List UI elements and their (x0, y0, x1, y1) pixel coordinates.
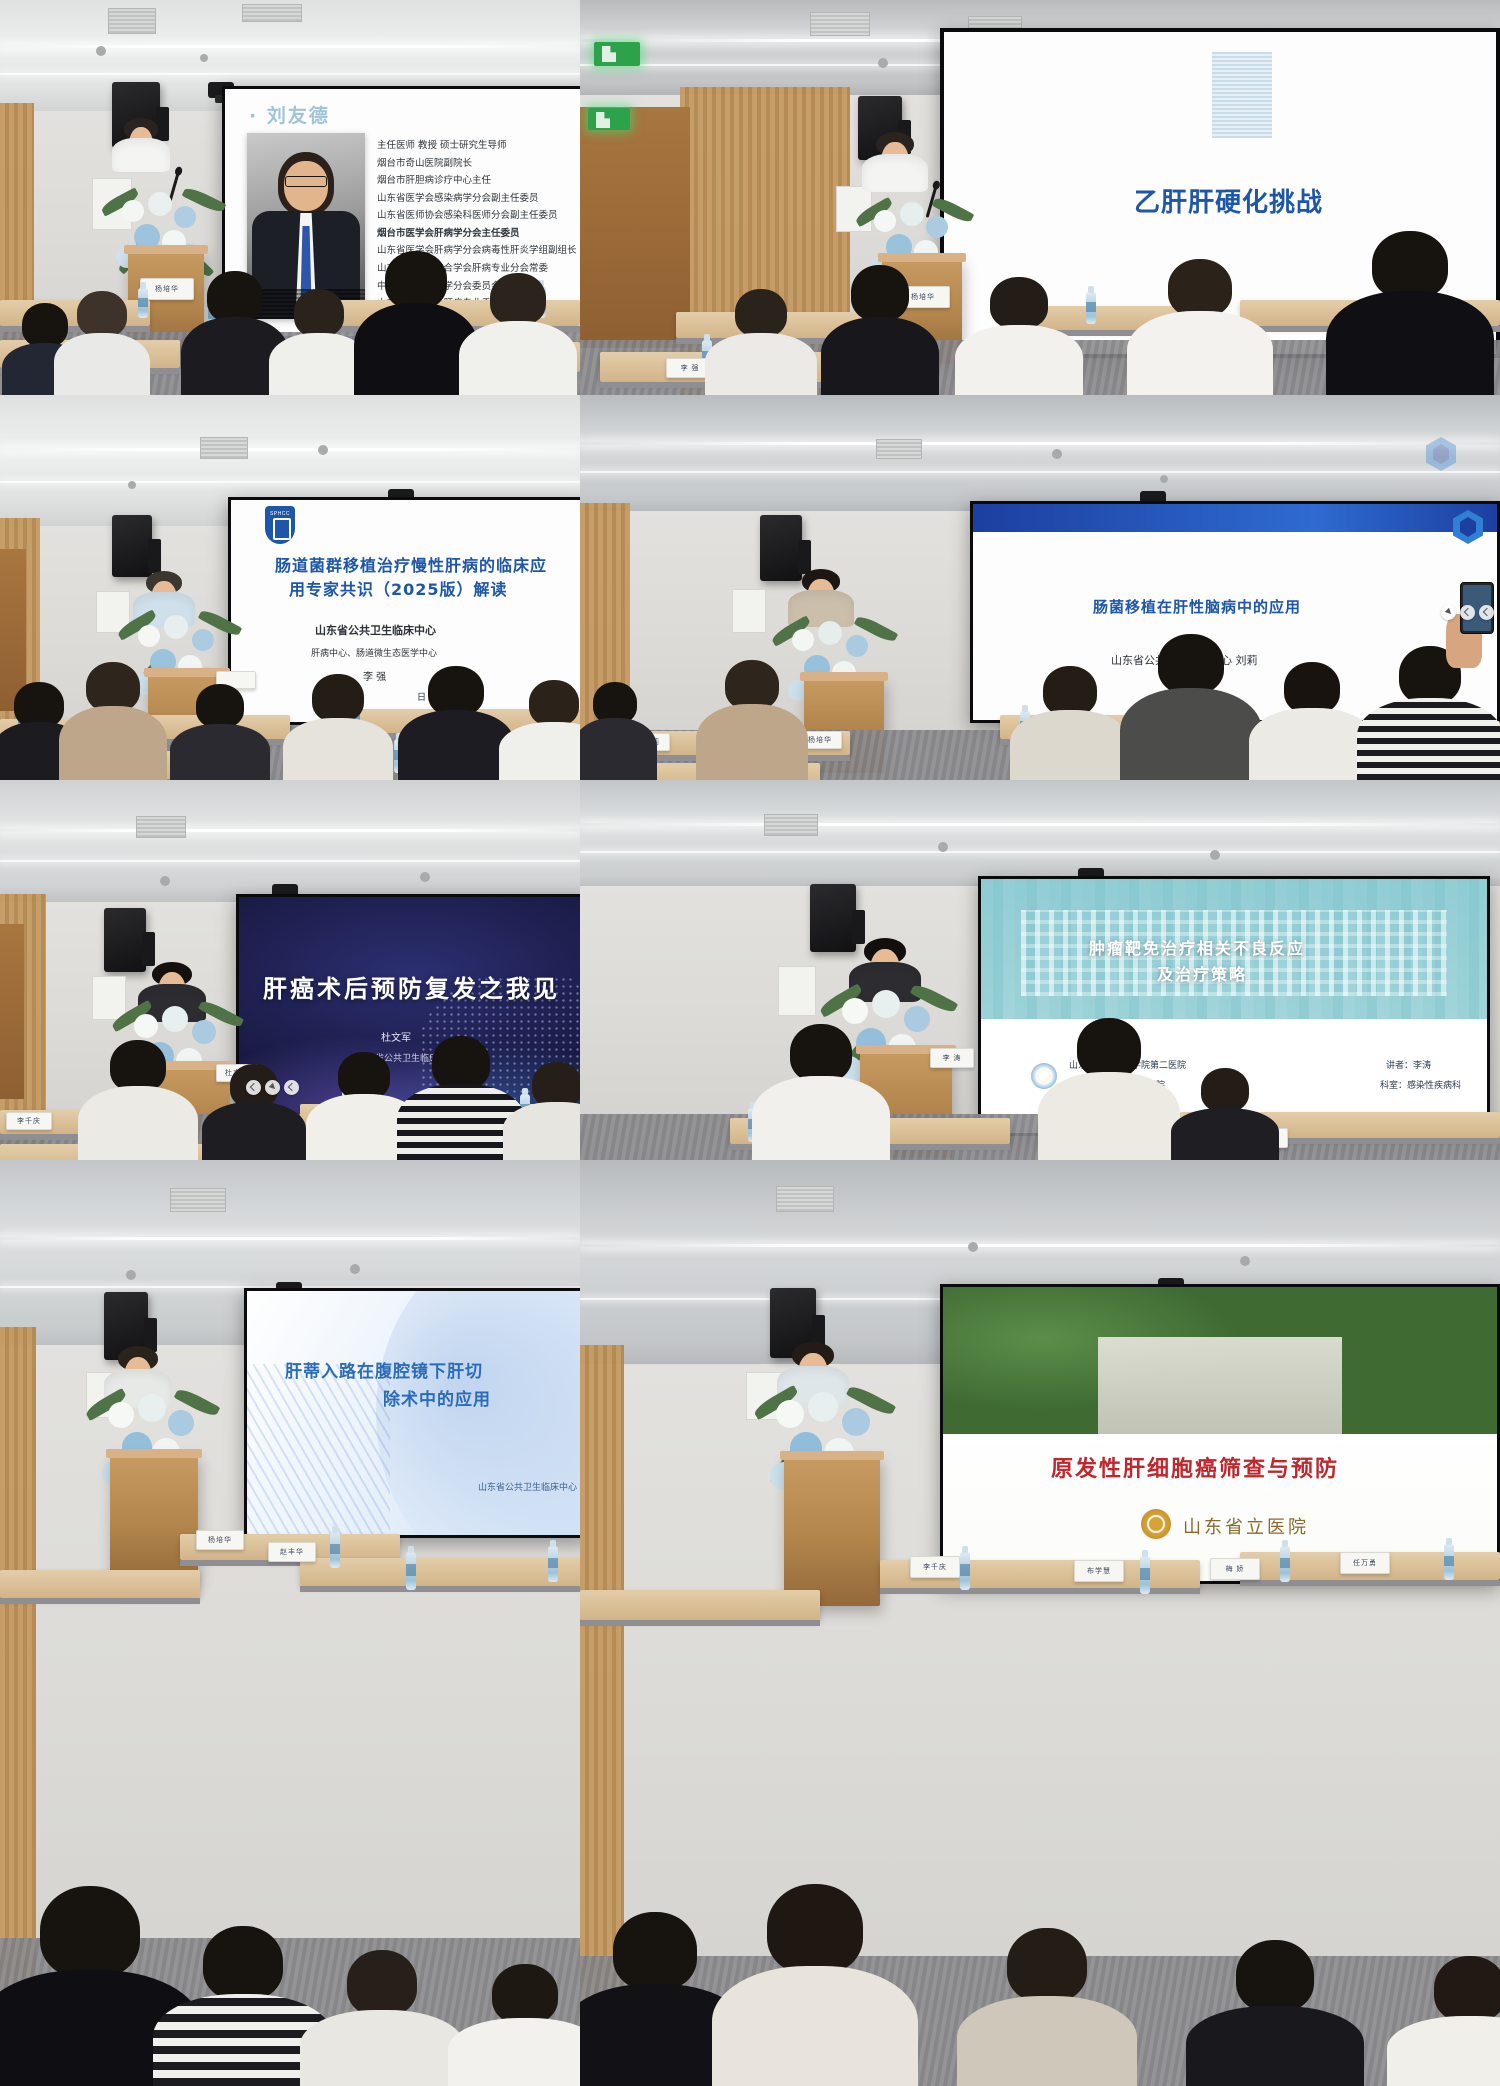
sphcc-logo-icon: SPHCC (265, 506, 295, 544)
panel-6[interactable]: 肿瘤靶免治疗相关不良反应 及治疗策略 山东大学齐鲁医学院第二医院 山东大学第二临… (580, 780, 1500, 1160)
desk (300, 1558, 580, 1586)
slide-heading: · 刘友德 (249, 101, 330, 128)
audience-member (972, 1936, 1122, 2086)
name-card: 李千庆 (6, 1112, 52, 1130)
slide-org: 山东省立医院 (1183, 1513, 1309, 1539)
conference-room-scene: 肿瘤靶免治疗相关不良反应 及治疗策略 山东大学齐鲁医学院第二医院 山东大学第二临… (580, 780, 1500, 1160)
audience-member (1400, 1964, 1500, 2086)
hospital-logo-icon (1141, 1509, 1171, 1539)
ceiling-vent-icon (776, 1186, 834, 1212)
panel-5[interactable]: 肝癌术后预防复发之我见 杜文军 山东省公共卫生临床中心 (0, 780, 580, 1160)
bio-line: 山东省医师协会感染科医师分会副主任委员 (377, 207, 577, 225)
slide-title-line-2: 用专家共识（2025版）解读 (289, 576, 508, 600)
smoke-detector-icon (1052, 449, 1062, 459)
ceiling-vent-icon (764, 814, 818, 836)
bio-line: 烟台市奇山医院副院长 (377, 155, 577, 173)
wall-speaker-icon (810, 884, 856, 952)
panel-7[interactable]: 肝蒂入路在腹腔镜下肝切 除术中的应用 山东省公共卫生临床中心 (0, 1160, 580, 2086)
wall-plate (778, 966, 816, 1016)
name-card: 杨培华 (196, 1530, 244, 1550)
audience-member (580, 676, 650, 780)
photo-collage-grid: · 刘友德 主任医师 教授 硕士研究生导师 烟台市奇山医院副院长 烟台市肝胆病诊… (0, 0, 1500, 2086)
conference-room-scene: 乙肝肝硬化挑战 杨培华 (580, 0, 1500, 395)
audience-member (408, 1032, 514, 1160)
panel-2[interactable]: 乙肝肝硬化挑战 杨培华 (580, 0, 1500, 395)
water-bottle (330, 1532, 340, 1568)
audience-member (1132, 630, 1250, 780)
water-bottle (960, 1552, 970, 1590)
water-bottle (406, 1552, 416, 1590)
audience-member (706, 654, 798, 780)
slide-dept: 肝病中心、肠道微生态医学中心 (311, 646, 437, 659)
ceiling (580, 395, 1500, 518)
slide-title: 肝癌术后预防复发之我见 (263, 969, 560, 1004)
ceiling-vent-icon (108, 8, 156, 34)
exit-sign-icon (588, 108, 630, 130)
play-icon[interactable] (1441, 605, 1456, 620)
smoke-detector-icon (160, 876, 170, 886)
smoke-detector-icon (1160, 475, 1168, 483)
audience-member (1020, 662, 1120, 780)
audience-member (1260, 660, 1364, 780)
audience-member (292, 672, 384, 780)
ceiling-vent-icon (876, 439, 922, 459)
conference-room-scene: SPHCC 肠道菌群移植治疗慢性肝病的临床应 用专家共识（2025版）解读 山东… (0, 395, 580, 780)
conference-room-scene: 肝癌术后预防复发之我见 杜文军 山东省公共卫生临床中心 (0, 780, 580, 1160)
water-bottle (548, 1546, 558, 1582)
ceiling-vent-icon (170, 1188, 226, 1212)
presenter-body (112, 138, 170, 172)
wall-speaker-icon (104, 908, 146, 972)
chevron-right-icon[interactable] (1479, 605, 1494, 620)
panel-3[interactable]: SPHCC 肠道菌群移植治疗慢性肝病的临床应 用专家共识（2025版）解读 山东… (0, 395, 580, 780)
audience-member (368, 245, 464, 395)
ceiling-vent-icon (200, 437, 248, 459)
audience-member (408, 662, 504, 780)
audience-member (508, 678, 580, 780)
slide-org: 山东省公共卫生临床中心 (478, 1480, 577, 1493)
audience-member (460, 1970, 580, 2086)
play-icon[interactable] (265, 1080, 280, 1095)
desk (580, 1590, 820, 1620)
water-bottle (1086, 292, 1096, 324)
podium (784, 1456, 880, 1606)
conference-room-scene: 肝蒂入路在腹腔镜下肝切 除术中的应用 山东省公共卫生临床中心 (0, 1160, 580, 2086)
smoke-detector-icon (1240, 1256, 1250, 1266)
audience-member (312, 1958, 452, 2086)
smoke-detector-icon (968, 1242, 978, 1252)
slideshow-nav-controls[interactable] (246, 1080, 299, 1095)
smoke-detector-icon (318, 445, 328, 455)
water-bottle (1444, 1544, 1454, 1580)
audience-member (88, 1036, 188, 1160)
slide-campus-photo (943, 1287, 1497, 1434)
panel-1[interactable]: · 刘友德 主任医师 教授 硕士研究生导师 烟台市奇山医院副院长 烟台市肝胆病诊… (0, 0, 580, 395)
audience-member (470, 269, 566, 395)
audience-member (190, 265, 280, 395)
audience-member (1200, 1950, 1350, 2086)
slide-content: 肝蒂入路在腹腔镜下肝切 除术中的应用 山东省公共卫生临床中心 (247, 1291, 580, 1535)
slide-title-line-2: 除术中的应用 (383, 1385, 491, 1410)
projection-screen[interactable]: 肝蒂入路在腹腔镜下肝切 除术中的应用 山东省公共卫生临床中心 (244, 1288, 580, 1538)
audience-member (730, 1890, 900, 2086)
audience-member (830, 263, 930, 395)
audience-member (168, 1936, 318, 2086)
exit-sign-icon (594, 42, 640, 66)
bio-line: 山东省医学会感染病学分会副主任委员 (377, 190, 577, 208)
slide-title-line-1: 肠道菌群移植治疗慢性肝病的临床应 (275, 552, 547, 576)
smoke-detector-icon (938, 842, 948, 852)
name-card: 赵丰华 (268, 1542, 316, 1562)
slide-title: 原发性肝细胞癌筛查与预防 (1051, 1451, 1339, 1483)
audience-member (276, 283, 362, 395)
door (0, 924, 24, 1099)
ceiling-vent-icon (810, 12, 870, 36)
chevron-left-icon[interactable] (1460, 605, 1475, 620)
projection-screen[interactable]: 原发性肝细胞癌筛查与预防 山东省立医院 (940, 1284, 1500, 1584)
audience-member (62, 285, 142, 395)
wall-speaker-icon (760, 515, 802, 581)
slide-speaker-label: 讲者：李涛 (1386, 1058, 1431, 1071)
smoke-detector-icon (350, 1264, 360, 1274)
slide-org: 山东省公共卫生临床中心 (315, 622, 436, 638)
smoke-detector-icon (96, 46, 106, 56)
audience-member (714, 285, 808, 395)
smoke-detector-icon (200, 54, 208, 62)
slide-title-line-1: 肝蒂入路在腹腔镜下肝切 (285, 1357, 483, 1382)
conference-room-scene: 肠菌移植在肝性脑病中的应用 山东省公共卫生临床中心 刘莉 (580, 395, 1500, 780)
logo-text: SPHCC (265, 511, 295, 517)
slide-header-band (973, 504, 1497, 532)
ceiling-vent-icon (136, 816, 186, 838)
name-card: 梅 娇 (1210, 1558, 1260, 1580)
smoke-detector-icon (1210, 850, 1220, 860)
slide-title-line-1: 肿瘤靶免治疗相关不良反应 (1089, 935, 1305, 959)
name-card: 任万勇 (1340, 1552, 1390, 1574)
slide-title-line-2: 及治疗策略 (1157, 961, 1247, 985)
slide-presenter: 杜文军 (381, 1029, 411, 1044)
slideshow-nav-controls[interactable] (1441, 605, 1494, 620)
audience-member (210, 1062, 298, 1160)
slide-title: 乙肝肝硬化挑战 (1134, 182, 1323, 219)
audience-member (1340, 225, 1480, 395)
slide-dept-label: 科室：感染性疾病科 (1380, 1078, 1461, 1091)
audience-member (178, 684, 262, 780)
wall-plate (732, 589, 766, 633)
desk (0, 1570, 200, 1598)
audience-member (1140, 255, 1260, 395)
panel-8[interactable]: 原发性肝细胞癌筛查与预防 山东省立医院 (580, 1160, 1500, 2086)
name-card: 李千庆 (910, 1556, 960, 1578)
conference-room-scene: · 刘友德 主任医师 教授 硕士研究生导师 烟台市奇山医院副院长 烟台市肝胆病诊… (0, 0, 580, 395)
door (580, 107, 690, 348)
chevron-right-icon[interactable] (284, 1080, 299, 1095)
wall-speaker-icon (112, 515, 152, 577)
audience-member (764, 1020, 878, 1160)
panel-4[interactable]: 肠菌移植在肝性脑病中的应用 山东省公共卫生临床中心 刘莉 (580, 395, 1500, 780)
presenter (124, 118, 158, 170)
smoke-detector-icon (128, 481, 136, 489)
audience-member (580, 1916, 730, 2086)
smoke-detector-icon (420, 872, 430, 882)
water-bottle (1280, 1546, 1290, 1582)
slide-title: 肠菌移植在肝性脑病中的应用 (1093, 596, 1301, 617)
audience-member (68, 658, 158, 780)
name-card: 杨培华 (140, 278, 194, 300)
smoke-detector-icon (126, 1270, 136, 1280)
audience-member (1180, 1068, 1270, 1160)
slide-line-graphic (247, 1364, 390, 1535)
slide-thumbnail (1212, 52, 1272, 138)
name-card: 布学慧 (1074, 1560, 1124, 1582)
audience-member (512, 1060, 580, 1160)
smoke-detector-icon (878, 58, 888, 68)
presenter-body (862, 154, 927, 192)
ceiling-vent-icon (242, 4, 302, 22)
audience-member (964, 275, 1074, 395)
presenter (876, 132, 914, 190)
audience-member (1050, 1014, 1168, 1160)
conference-room-scene: 原发性肝细胞癌筛查与预防 山东省立医院 (580, 1160, 1500, 2086)
water-bottle (1140, 1556, 1150, 1594)
slide-content: 原发性肝细胞癌筛查与预防 山东省立医院 (943, 1287, 1497, 1581)
slide-arc-graphic (376, 1291, 580, 1535)
bio-line: 烟台市肝胆病诊疗中心主任 (377, 172, 577, 190)
bio-line: 主任医师 教授 硕士研究生导师 (377, 137, 577, 155)
name-card: 李 涛 (930, 1048, 974, 1068)
chevron-left-icon[interactable] (246, 1080, 261, 1095)
bio-line-bold: 烟台市医学会肝病学分会主任委员 (377, 225, 577, 243)
